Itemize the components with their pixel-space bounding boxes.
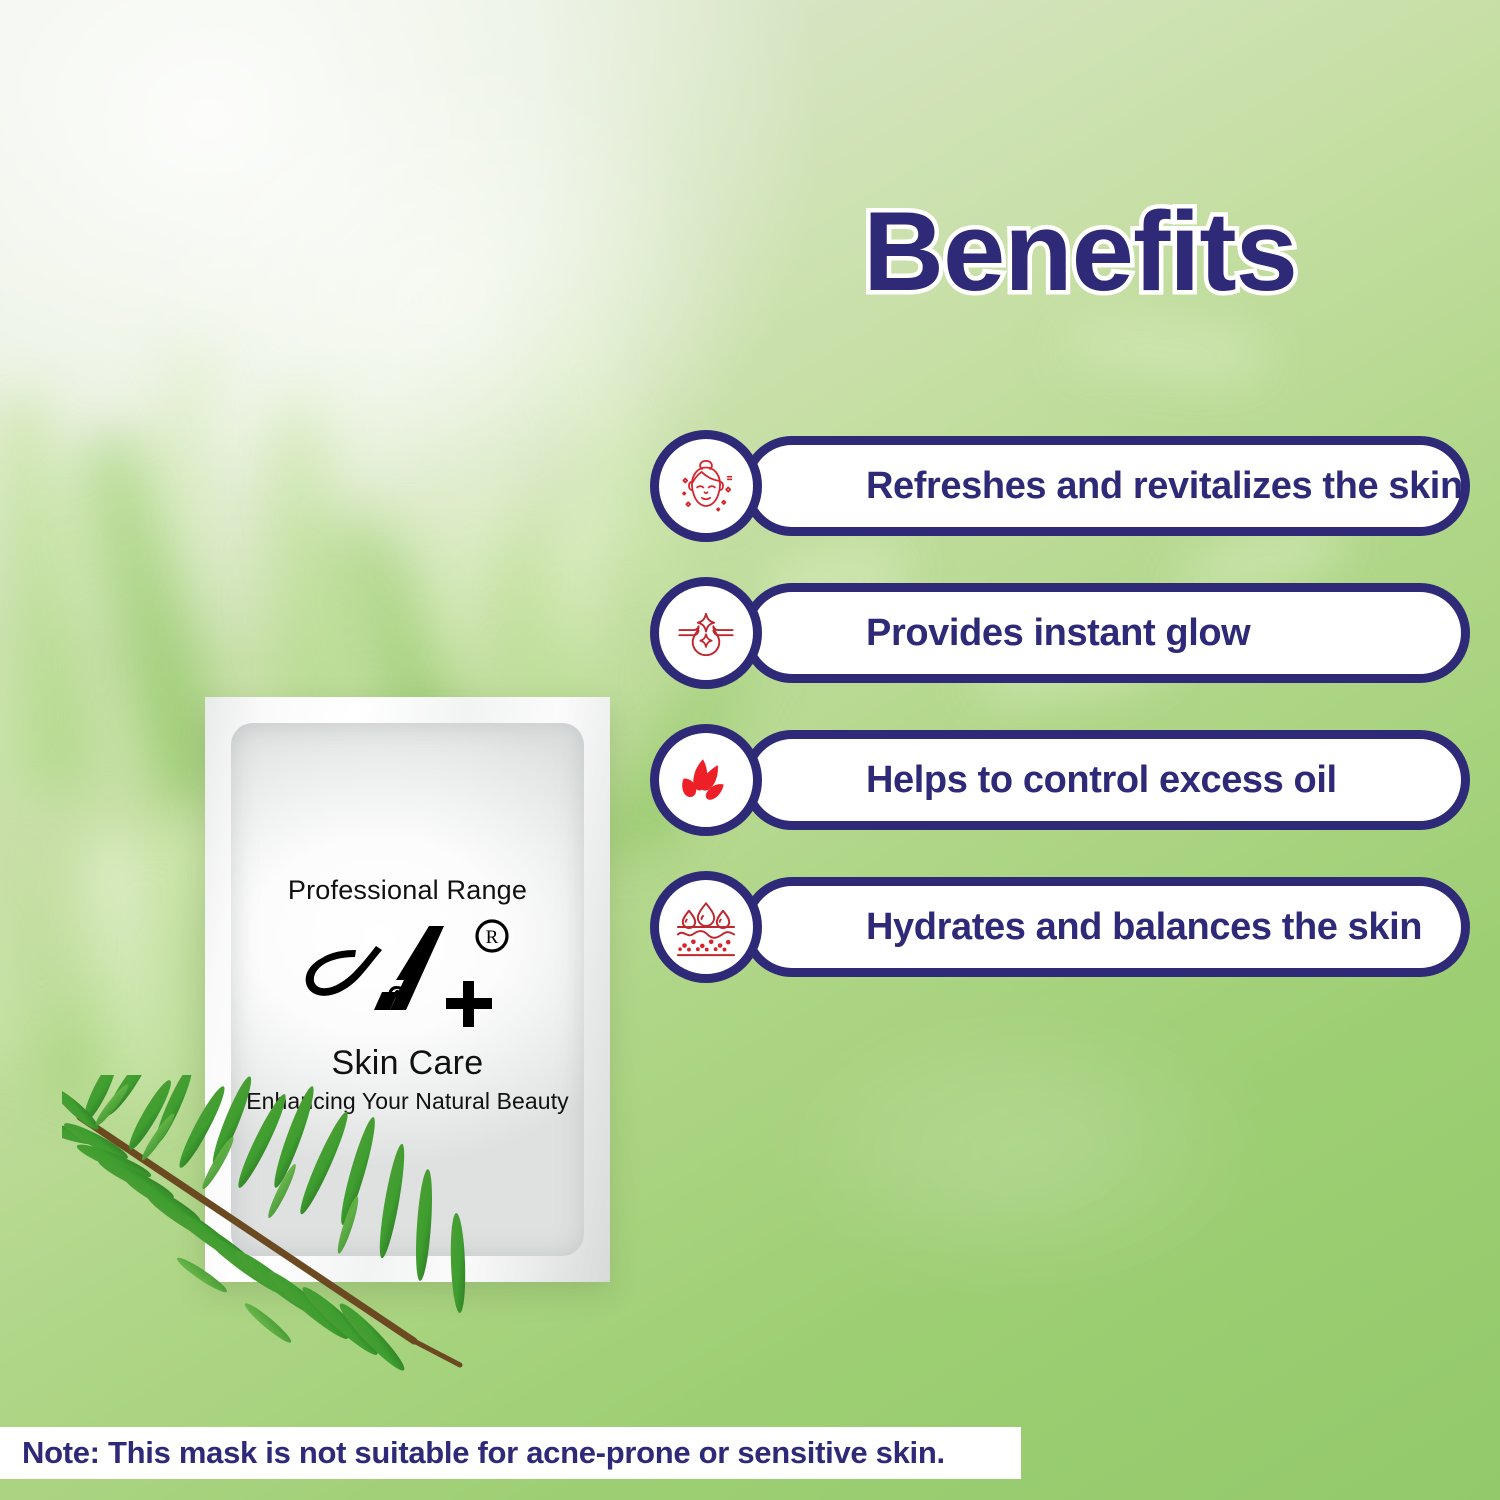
benefit-label: Refreshes and revitalizes the skin [866,465,1463,508]
benefit-label: Provides instant glow [866,612,1250,655]
benefit-row[interactable]: Provides instant glow [650,577,1470,689]
background-light-sheen [120,40,740,560]
benefit-pill[interactable]: Provides instant glow [742,583,1470,683]
benefit-row[interactable]: Helps to control excess oil [650,724,1470,836]
benefit-pill[interactable]: Refreshes and revitalizes the skin [742,436,1470,536]
face-sparkle-icon [669,449,743,523]
benefit-label: Helps to control excess oil [866,759,1337,802]
benefit-icon-badge [650,577,762,689]
brand-logo-a-plus: R [205,914,610,1042]
page-title: Benefits [760,196,1400,308]
benefit-label: Hydrates and balances the skin [866,906,1422,949]
pore-sparkle-icon [669,596,743,670]
background-light-sheen-secondary [760,1000,1280,1300]
disclaimer-note-bar: Note: This mask is not suitable for acne… [0,1427,1021,1479]
benefit-icon-badge [650,430,762,542]
disclaimer-note-text: Note: This mask is not suitable for acne… [22,1435,945,1471]
benefits-list: Refreshes and revitalizes the skin [650,430,1470,1018]
benefit-icon-badge [650,724,762,836]
oil-droplets-icon [669,743,743,817]
sachet-professional-range: Professional Range [205,875,610,906]
tea-tree-sprig [62,1075,492,1375]
benefit-row[interactable]: Hydrates and balances the skin [650,871,1470,983]
product-benefits-poster: Benefits Refreshes and revitalizes the s… [0,0,1500,1500]
benefit-pill[interactable]: Hydrates and balances the skin [742,877,1470,977]
benefit-icon-badge [650,871,762,983]
hydration-skin-layers-icon [669,890,743,964]
svg-text:R: R [485,927,498,948]
benefit-pill[interactable]: Helps to control excess oil [742,730,1470,830]
benefit-row[interactable]: Refreshes and revitalizes the skin [650,430,1470,542]
